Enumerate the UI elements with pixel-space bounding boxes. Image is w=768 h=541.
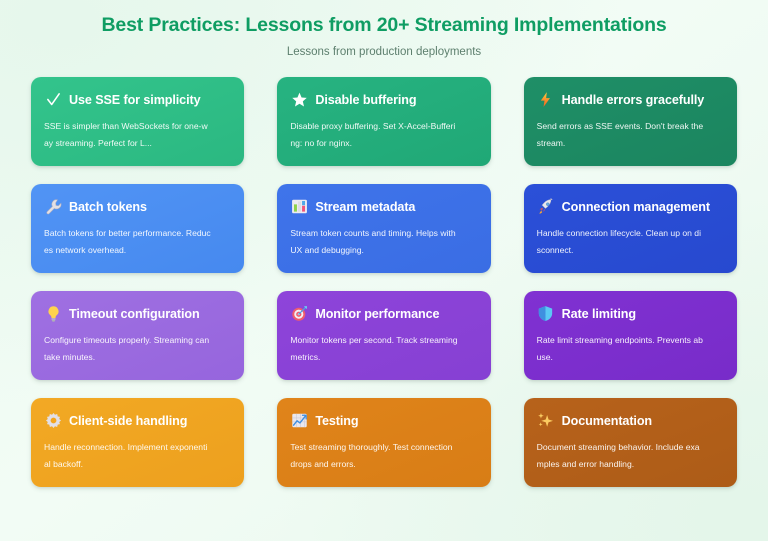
practice-card[interactable]: Documentation Document streaming behavio… (524, 398, 737, 487)
card-header: Client-side handling (44, 411, 231, 431)
page-header: Best Practices: Lessons from 20+ Streami… (0, 0, 768, 60)
card-header: Connection management (537, 197, 724, 217)
card-title: Documentation (562, 414, 652, 428)
card-title: Monitor performance (315, 307, 439, 321)
card-title: Testing (315, 414, 358, 428)
card-body: SSE is simpler than WebSockets for one-w… (44, 118, 212, 152)
best-practices-page: Best Practices: Lessons from 20+ Streami… (0, 0, 768, 541)
sparkles-icon (537, 412, 555, 430)
card-title: Batch tokens (69, 200, 147, 214)
practice-card[interactable]: Disable buffering Disable proxy bufferin… (277, 77, 490, 166)
best-practices-card-grid: Use SSE for simplicity SSE is simpler th… (31, 77, 737, 487)
card-body: Stream token counts and timing. Helps wi… (290, 225, 458, 259)
practice-card[interactable]: Use SSE for simplicity SSE is simpler th… (31, 77, 244, 166)
card-header: Monitor performance (290, 304, 477, 324)
rocket-icon (537, 198, 555, 216)
card-title: Rate limiting (562, 307, 636, 321)
card-body: Test streaming thoroughly. Test connecti… (290, 439, 458, 473)
practice-card[interactable]: Monitor performance Monitor tokens per s… (277, 291, 490, 380)
card-title: Client-side handling (69, 414, 187, 428)
gear-icon (44, 412, 62, 430)
dart-target-icon (290, 305, 308, 323)
practice-card[interactable]: Client-side handling Handle reconnection… (31, 398, 244, 487)
card-body: Batch tokens for better performance. Red… (44, 225, 212, 259)
chart-increasing-icon (290, 412, 308, 430)
practice-card[interactable]: Stream metadata Stream token counts and … (277, 184, 490, 273)
lightning-bolt-icon (537, 91, 555, 109)
practice-card[interactable]: Timeout configuration Configure timeouts… (31, 291, 244, 380)
card-body: Configure timeouts properly. Streaming c… (44, 332, 212, 366)
card-title: Stream metadata (315, 200, 415, 214)
card-body: Disable proxy buffering. Set X-Accel-Buf… (290, 118, 458, 152)
card-header: Timeout configuration (44, 304, 231, 324)
card-body: Send errors as SSE events. Don't break t… (537, 118, 705, 152)
page-title: Best Practices: Lessons from 20+ Streami… (0, 13, 768, 37)
page-subtitle: Lessons from production deployments (0, 45, 768, 59)
card-body: Monitor tokens per second. Track streami… (290, 332, 458, 366)
star-icon (290, 91, 308, 109)
card-title: Connection management (562, 200, 710, 214)
light-bulb-icon (44, 305, 62, 323)
card-header: Disable buffering (290, 90, 477, 110)
practice-card[interactable]: Connection management Handle connection … (524, 184, 737, 273)
card-body: Handle reconnection. Implement exponenti… (44, 439, 212, 473)
card-header: Documentation (537, 411, 724, 431)
card-header: Rate limiting (537, 304, 724, 324)
card-title: Disable buffering (315, 93, 416, 107)
check-mark-icon (44, 91, 62, 109)
card-header: Handle errors gracefully (537, 90, 724, 110)
card-title: Use SSE for simplicity (69, 93, 200, 107)
wrench-icon (44, 198, 62, 216)
practice-card[interactable]: Rate limiting Rate limit streaming endpo… (524, 291, 737, 380)
card-body: Document streaming behavior. Include exa… (537, 439, 705, 473)
bar-chart-icon (290, 198, 308, 216)
card-header: Testing (290, 411, 477, 431)
card-header: Use SSE for simplicity (44, 90, 231, 110)
card-body: Handle connection lifecycle. Clean up on… (537, 225, 705, 259)
card-title: Timeout configuration (69, 307, 200, 321)
practice-card[interactable]: Handle errors gracefully Send errors as … (524, 77, 737, 166)
practice-card[interactable]: Batch tokens Batch tokens for better per… (31, 184, 244, 273)
shield-icon (537, 305, 555, 323)
practice-card[interactable]: Testing Test streaming thoroughly. Test … (277, 398, 490, 487)
card-header: Batch tokens (44, 197, 231, 217)
card-header: Stream metadata (290, 197, 477, 217)
card-title: Handle errors gracefully (562, 93, 704, 107)
card-body: Rate limit streaming endpoints. Prevents… (537, 332, 705, 366)
